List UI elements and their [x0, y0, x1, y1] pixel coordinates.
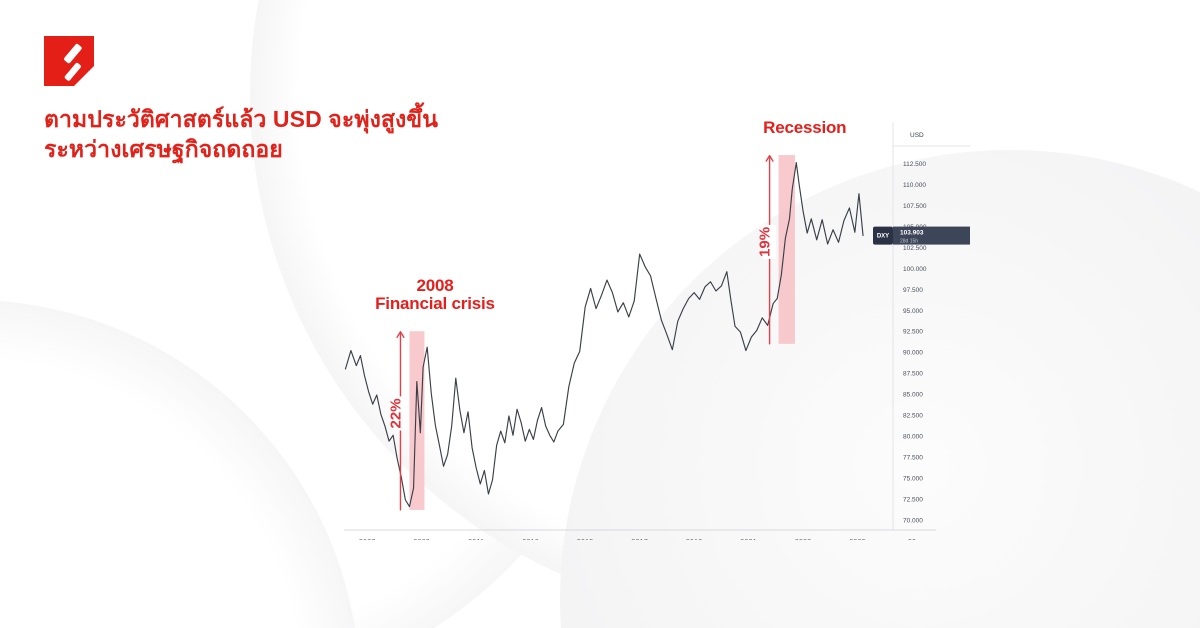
dxy-line-chart: 2008Financial crisis22%2022Recession19% … [330, 120, 990, 540]
price-axis-unit-label: USD [910, 132, 924, 139]
y-tick-label: 80.000 [903, 434, 923, 441]
y-tick-label: 90.000 [903, 350, 923, 357]
x-tick-label: 2013 [522, 539, 539, 540]
y-tick-label: 107.500 [903, 203, 927, 210]
tooltip-symbol-label: DXY [877, 234, 889, 240]
x-tick-label: 2025 [849, 539, 866, 540]
tooltip-countdown: 28d 15h [900, 239, 918, 245]
annotation-event-recession-2022: Recession [763, 120, 846, 137]
x-tick-label: 2007 [359, 539, 376, 540]
flipper-pen-logo-icon [44, 36, 94, 86]
brand-header [44, 36, 94, 86]
x-tick-label: 2009 [413, 539, 430, 540]
x-tick-label: 2017 [631, 539, 648, 540]
chart-svg: 2008Financial crisis22%2022Recession19% … [330, 120, 990, 540]
y-tick-label: 102.500 [903, 245, 927, 252]
y-tick-label: 92.500 [903, 329, 923, 336]
measure-pct-label-crisis-2008: 22% [387, 398, 404, 428]
x-axis: 2007200920112013201520172019202120232025… [344, 530, 936, 540]
annotation-group: 2008Financial crisis22%2022Recession19% [375, 120, 846, 510]
x-tick-label: 2023 [795, 539, 812, 540]
highlight-band-crisis-2008 [409, 331, 424, 510]
y-tick-label: 77.500 [903, 455, 923, 462]
measure-pct-label-recession-2022: 19% [757, 227, 774, 257]
poster-canvas: ตามประวัติศาสตร์แล้ว USD จะพุ่งสูงขึ้น ร… [0, 0, 1200, 628]
price-band-group [409, 155, 794, 510]
y-tick-label: 100.000 [903, 266, 927, 273]
y-tick-label: 87.500 [903, 371, 923, 378]
background-blob-bottom [0, 300, 360, 628]
y-tick-label: 72.500 [903, 497, 923, 504]
x-tick-label: 2019 [686, 539, 703, 540]
y-tick-label: 97.500 [903, 287, 923, 294]
x-tick-label: 2011 [468, 539, 484, 540]
price-tooltip: DXY103.90328d 15h [873, 227, 970, 245]
y-tick-label: 82.500 [903, 413, 923, 420]
tooltip-price-value: 103.903 [900, 230, 924, 237]
y-axis[interactable]: USD112.500110.000107.500105.000102.50010… [893, 122, 970, 530]
y-tick-label: 112.500 [903, 161, 926, 168]
x-tick-label: 2015 [577, 539, 594, 540]
y-tick-label: 85.000 [903, 392, 923, 399]
y-tick-label: 75.000 [903, 476, 923, 483]
y-tick-label: 95.000 [903, 308, 923, 315]
y-tick-label: 70.000 [903, 518, 923, 525]
y-tick-label: 110.000 [903, 182, 926, 189]
x-tick-label: 2021 [740, 539, 757, 540]
x-tick-label: 20 [908, 539, 916, 540]
annotation-year-crisis-2008: 2008 [416, 276, 453, 295]
annotation-event-crisis-2008: Financial crisis [375, 294, 495, 313]
highlight-band-recession-2022 [779, 155, 795, 344]
